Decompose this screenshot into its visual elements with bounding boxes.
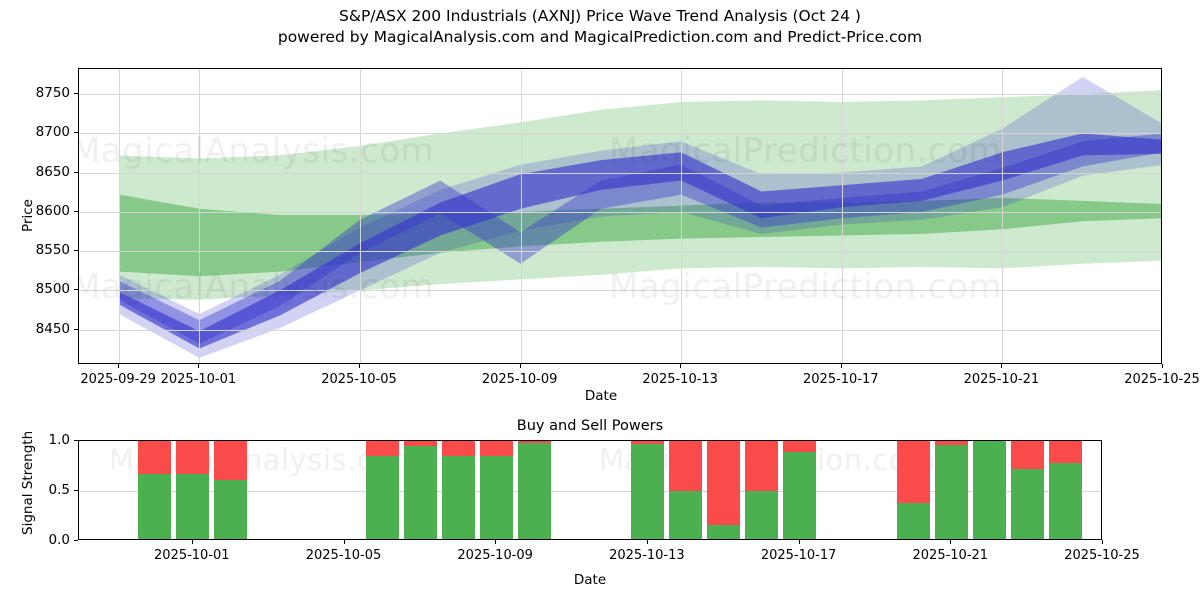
signal-xtick-label: 2025-10-13 bbox=[609, 548, 685, 563]
buy-power-bar[interactable] bbox=[138, 474, 171, 540]
signal-xtick-mark bbox=[495, 540, 496, 544]
signal-ytick-label: 0.0 bbox=[49, 532, 70, 548]
price-ytick-mark bbox=[74, 132, 78, 133]
signal-xaxis-label: Date bbox=[574, 572, 606, 588]
price-ytick-label: 8450 bbox=[36, 321, 70, 337]
gridline-horizontal bbox=[79, 133, 1161, 134]
price-ytick-label: 8650 bbox=[36, 164, 70, 180]
buy-power-bar[interactable] bbox=[176, 474, 209, 540]
gridline-horizontal bbox=[79, 212, 1161, 213]
signal-xtick-mark bbox=[1102, 540, 1103, 544]
buy-power-bar[interactable] bbox=[935, 445, 968, 540]
price-xtick-label: 2025-09-29 bbox=[80, 372, 156, 387]
gridline-vertical bbox=[842, 69, 843, 363]
signal-xtick-mark bbox=[192, 540, 193, 544]
price-ytick-mark bbox=[74, 172, 78, 173]
sell-power-bar[interactable] bbox=[138, 441, 171, 474]
price-ytick-mark bbox=[74, 289, 78, 290]
gridline-horizontal bbox=[79, 290, 1161, 291]
price-xtick-mark bbox=[841, 364, 842, 368]
price-xaxis-label: Date bbox=[585, 388, 617, 404]
buy-power-bar[interactable] bbox=[783, 452, 816, 540]
chart-page: S&P/ASX 200 Industrials (AXNJ) Price Wav… bbox=[0, 0, 1200, 600]
gridline-horizontal bbox=[79, 173, 1161, 174]
gridline-vertical bbox=[521, 69, 522, 363]
price-xtick-mark bbox=[198, 364, 199, 368]
buy-sell-powers-chart: MagicalAnalysis.comMagicalPrediction.com… bbox=[78, 440, 1102, 540]
gridline-horizontal bbox=[79, 330, 1161, 331]
buy-power-bar[interactable] bbox=[442, 456, 475, 540]
price-xtick-mark bbox=[1162, 364, 1163, 368]
sell-power-bar[interactable] bbox=[1011, 441, 1044, 469]
chart-subtitle-credits: powered by MagicalAnalysis.com and Magic… bbox=[0, 27, 1200, 48]
sell-power-bar[interactable] bbox=[176, 441, 209, 474]
price-xtick-label: 2025-10-13 bbox=[642, 372, 718, 387]
gridline-vertical bbox=[199, 69, 200, 363]
signal-xtick-label: 2025-10-17 bbox=[761, 548, 837, 563]
price-wave-bands bbox=[79, 69, 1162, 364]
sell-power-bar[interactable] bbox=[442, 441, 475, 456]
sell-power-bar[interactable] bbox=[707, 441, 740, 525]
signal-yaxis-label: Signal Strength bbox=[20, 431, 36, 535]
chart-title-block: S&P/ASX 200 Industrials (AXNJ) Price Wav… bbox=[0, 6, 1200, 48]
sell-power-bar[interactable] bbox=[366, 441, 399, 456]
price-ytick-mark bbox=[74, 250, 78, 251]
sell-power-bar[interactable] bbox=[745, 441, 778, 491]
gridline-vertical bbox=[681, 69, 682, 363]
buy-power-bar[interactable] bbox=[973, 441, 1006, 540]
sell-power-bar[interactable] bbox=[214, 441, 247, 480]
price-xtick-label: 2025-10-09 bbox=[482, 372, 558, 387]
buy-power-bar[interactable] bbox=[214, 480, 247, 540]
gridline-vertical bbox=[119, 69, 120, 363]
signal-ytick-label: 0.5 bbox=[49, 482, 70, 498]
buy-power-bar[interactable] bbox=[1049, 463, 1082, 540]
signal-ytick-mark bbox=[74, 440, 78, 441]
buy-power-bar[interactable] bbox=[669, 491, 702, 540]
signal-plot-area: MagicalAnalysis.comMagicalPrediction.com bbox=[78, 440, 1102, 540]
price-ytick-mark bbox=[74, 329, 78, 330]
price-ytick-label: 8700 bbox=[36, 124, 70, 140]
signal-xtick-label: 2025-10-25 bbox=[1064, 548, 1140, 563]
price-ytick-label: 8750 bbox=[36, 85, 70, 101]
signal-ytick-mark bbox=[74, 540, 78, 541]
sell-power-bar[interactable] bbox=[669, 441, 702, 491]
price-yaxis-label: Price bbox=[20, 199, 36, 232]
price-xtick-label: 2025-10-05 bbox=[321, 372, 397, 387]
price-xtick-label: 2025-10-21 bbox=[964, 372, 1040, 387]
price-ytick-mark bbox=[74, 93, 78, 94]
sell-power-bar[interactable] bbox=[897, 441, 930, 503]
gridline-vertical bbox=[360, 69, 361, 363]
signal-xtick-mark bbox=[950, 540, 951, 544]
gridline-horizontal bbox=[79, 94, 1161, 95]
buy-power-bar[interactable] bbox=[1011, 469, 1044, 540]
price-ytick-mark bbox=[74, 211, 78, 212]
signal-xtick-label: 2025-10-05 bbox=[306, 548, 382, 563]
buy-power-bar[interactable] bbox=[366, 456, 399, 540]
signal-xtick-mark bbox=[647, 540, 648, 544]
buy-power-bar[interactable] bbox=[897, 503, 930, 540]
sell-power-bar[interactable] bbox=[480, 441, 513, 456]
gridline-vertical bbox=[1002, 69, 1003, 363]
buy-power-bar[interactable] bbox=[518, 443, 551, 540]
buy-power-bar[interactable] bbox=[745, 491, 778, 540]
price-xtick-label: 2025-10-17 bbox=[803, 372, 879, 387]
price-xtick-mark bbox=[118, 364, 119, 368]
sell-power-bar[interactable] bbox=[783, 441, 816, 452]
sell-power-bar[interactable] bbox=[1049, 441, 1082, 463]
price-ytick-label: 8550 bbox=[36, 242, 70, 258]
signal-ytick-mark bbox=[74, 490, 78, 491]
signal-xtick-label: 2025-10-21 bbox=[913, 548, 989, 563]
price-ytick-label: 8600 bbox=[36, 203, 70, 219]
chart-title: S&P/ASX 200 Industrials (AXNJ) Price Wav… bbox=[0, 6, 1200, 27]
gridline-horizontal bbox=[79, 251, 1161, 252]
signal-ytick-label: 1.0 bbox=[49, 432, 70, 448]
price-xtick-mark bbox=[680, 364, 681, 368]
buy-power-bar[interactable] bbox=[707, 525, 740, 540]
price-xtick-label: 2025-10-25 bbox=[1124, 372, 1200, 387]
signal-xtick-mark bbox=[344, 540, 345, 544]
price-xtick-mark bbox=[359, 364, 360, 368]
price-xtick-label: 2025-10-01 bbox=[161, 372, 237, 387]
price-plot-area: MagicalAnalysis.comMagicalPrediction.com… bbox=[78, 68, 1162, 364]
buy-power-bar[interactable] bbox=[631, 444, 664, 540]
signal-chart-title: Buy and Sell Powers bbox=[78, 418, 1102, 434]
signal-xtick-label: 2025-10-09 bbox=[457, 548, 533, 563]
price-xtick-mark bbox=[1001, 364, 1002, 368]
signal-xtick-mark bbox=[799, 540, 800, 544]
buy-power-bar[interactable] bbox=[404, 446, 437, 540]
price-xtick-mark bbox=[520, 364, 521, 368]
price-wave-chart: MagicalAnalysis.comMagicalPrediction.com… bbox=[78, 68, 1162, 364]
signal-xtick-label: 2025-10-01 bbox=[154, 548, 230, 563]
buy-power-bar[interactable] bbox=[480, 456, 513, 540]
price-ytick-label: 8500 bbox=[36, 281, 70, 297]
